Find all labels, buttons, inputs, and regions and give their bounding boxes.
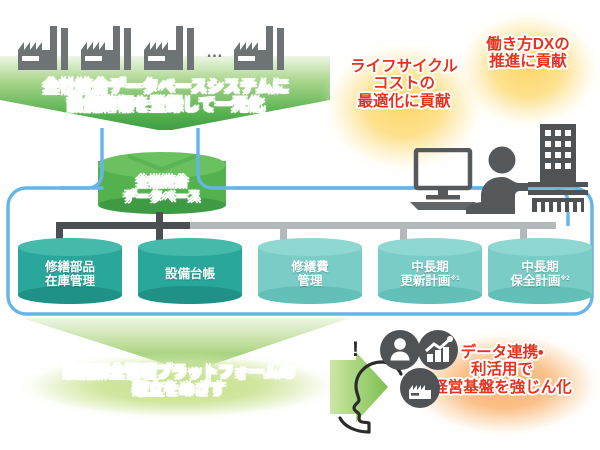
database-cylinder-label: 設備台帳: [138, 238, 242, 304]
database-cylinder-label: 中長期 保全計画※2: [488, 238, 592, 304]
goal-banner-line2: 確立をめざす: [63, 381, 295, 398]
goal-banner-line1: 設備保全管理プラットフォームの: [63, 364, 295, 381]
database-cylinder: 中長期 更新計画※1: [378, 238, 482, 304]
db-4-line2: 更新計画: [400, 274, 450, 288]
callout-dx-text: 働き方DXの 推進に貢献: [456, 36, 600, 71]
db-4-note: ※1: [450, 276, 459, 282]
db-1-line1: 修繕部品: [45, 260, 95, 274]
diagram-canvas: 全社統合データベースシステムに 設備情報を登録して一元化 …: [0, 0, 600, 450]
database-cylinder: 設備台帳: [138, 238, 242, 304]
callout-dx-line1: 働き方DXの: [486, 36, 570, 53]
database-cylinder-label: 修繕部品 在庫管理: [18, 238, 122, 304]
db-3-line2: 管理: [291, 274, 329, 288]
factory-icon: [142, 22, 198, 72]
database-cylinder-label: 修繕費 管理: [258, 238, 362, 304]
factory-icon: [79, 22, 135, 72]
callout-lifecycle-line3: 最適化に貢献: [350, 93, 458, 110]
factory-icon: [16, 22, 72, 72]
factory-source-row: …: [16, 22, 316, 72]
person-icon: [380, 330, 420, 370]
office-building-icon: [522, 122, 592, 214]
top-banner-line2: 設備情報を登録して一元化: [43, 96, 289, 114]
ellipsis-label: …: [206, 42, 226, 62]
outcome-line3: 経営基盤を強じん化: [432, 379, 572, 396]
callout-lifecycle-line2: コストの: [350, 75, 458, 92]
database-cylinder: 修繕費 管理: [258, 238, 362, 304]
factory-icon: [232, 22, 288, 72]
database-cylinder: 修繕部品 在庫管理: [18, 238, 122, 304]
bar-chart-icon: [418, 330, 458, 370]
frame-blue-connectors: [60, 128, 240, 190]
db-5-line2: 保全計画: [510, 274, 560, 288]
exclamation-mark: !: [352, 338, 359, 362]
database-cylinder: 中長期 保全計画※2: [488, 238, 592, 304]
top-banner-line1: 全社統合データベースシステムに: [43, 78, 289, 96]
goal-banner-text: 設備保全管理プラットフォームの 確立をめざす: [24, 364, 334, 399]
callout-dx-line2: 推進に貢献: [486, 53, 570, 70]
top-banner-text: 全社統合データベースシステムに 設備情報を登録して一元化: [8, 78, 324, 115]
database-cylinder-label: 中長期 更新計画※1: [378, 238, 482, 304]
db-4-line1: 中長期: [400, 260, 459, 274]
db-5-note: ※2: [560, 276, 569, 282]
db-5-line1: 中長期: [510, 260, 569, 274]
db-3-line1: 修繕費: [291, 260, 329, 274]
factory-icon: [400, 368, 440, 408]
db-2-line1: 設備台帳: [165, 267, 215, 281]
db-1-line2: 在庫管理: [45, 274, 95, 288]
callout-lifecycle-line1: ライフサイクル: [350, 58, 458, 75]
